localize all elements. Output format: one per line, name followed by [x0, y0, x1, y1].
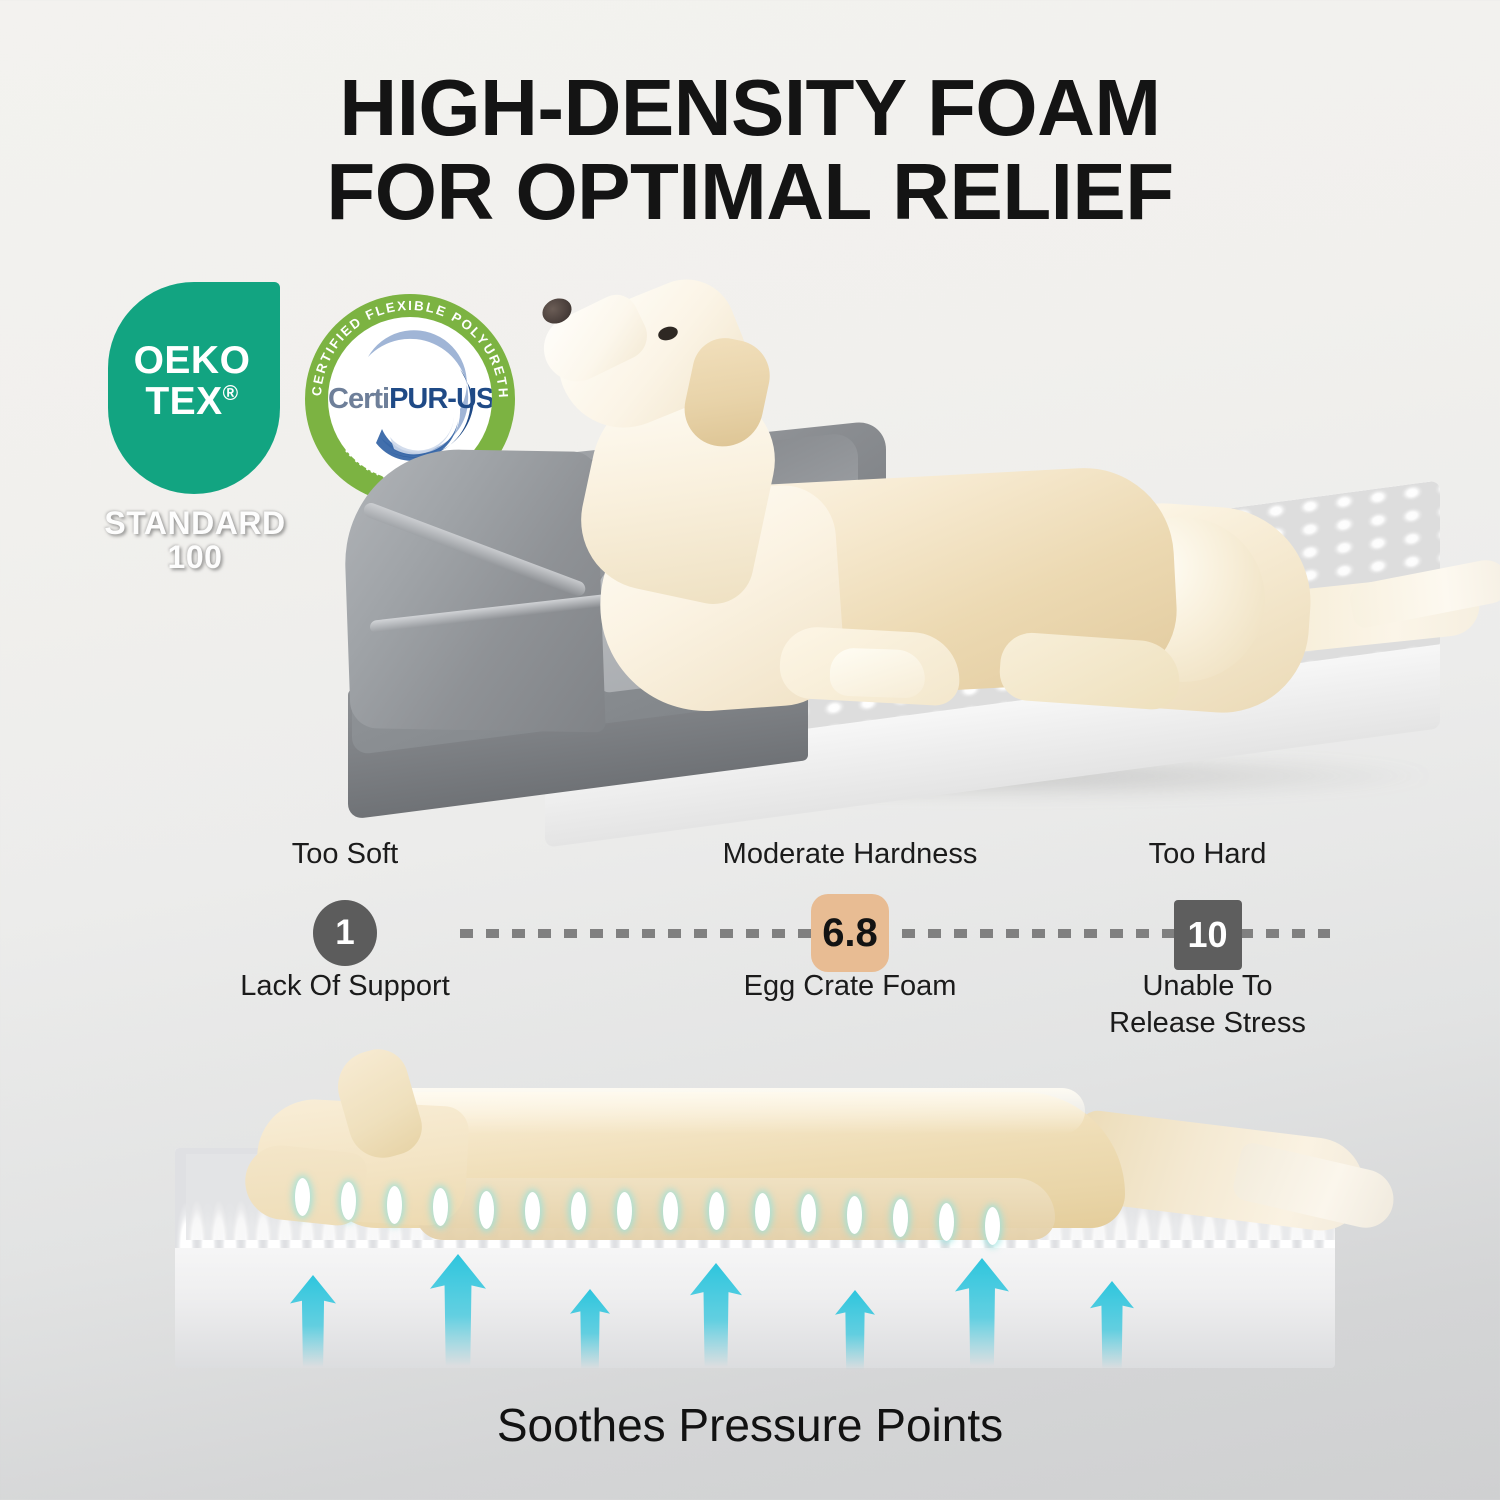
- dog-back-highlight: [385, 1088, 1085, 1134]
- oeko-standard-line-2: 100: [168, 539, 223, 575]
- page-title: HIGH-DENSITY FOAM FOR OPTIMAL RELIEF: [0, 66, 1500, 234]
- oeko-registered-mark: ®: [223, 382, 239, 405]
- scale-top-label: Too Soft: [292, 838, 398, 871]
- spine-pressure-dot: [617, 1192, 632, 1230]
- oeko-standard-label: STANDARD 100: [100, 506, 290, 574]
- dog-hind-leg: [998, 631, 1182, 711]
- spine-pressure-dot: [801, 1194, 816, 1232]
- title-line-1: HIGH-DENSITY FOAM: [0, 66, 1500, 150]
- scale-marker-1: 1: [313, 900, 377, 966]
- spine-pressure-dot: [893, 1199, 908, 1237]
- labrador-dog-lying: [300, 255, 1440, 815]
- scale-bottom-label: Egg Crate Foam: [744, 968, 957, 1005]
- pressure-arrow: [290, 1269, 336, 1373]
- spine-pressure-dot: [341, 1182, 356, 1220]
- spine-pressure-dot: [709, 1192, 724, 1230]
- title-line-2: FOR OPTIMAL RELIEF: [0, 150, 1500, 234]
- dog-paw: [829, 647, 926, 698]
- pressure-arrow: [430, 1247, 486, 1373]
- oeko-standard-line-1: STANDARD: [104, 505, 285, 541]
- spine-pressure-dot: [571, 1192, 586, 1230]
- spine-pressure-dot: [479, 1191, 494, 1229]
- spine-pressure-dot: [433, 1188, 448, 1226]
- oeko-tex-badge: OEKO TEX® STANDARD 100: [108, 282, 288, 574]
- oeko-tex-droplet-shape: OEKO TEX®: [108, 282, 280, 494]
- pressure-arrow: [570, 1285, 610, 1373]
- scale-marker-68: 6.8: [811, 894, 889, 972]
- spine-pressure-dot: [755, 1193, 770, 1231]
- pressure-arrow: [955, 1251, 1009, 1373]
- firmness-scale: Too Soft 1 Lack Of Support Moderate Hard…: [150, 838, 1350, 1053]
- oeko-line-2: TEX: [145, 380, 222, 423]
- scale-top-label: Moderate Hardness: [723, 838, 978, 871]
- upward-pressure-arrows: [290, 1238, 1190, 1373]
- spine-pressure-dot: [295, 1178, 310, 1216]
- bottom-caption: Soothes Pressure Points: [0, 1398, 1500, 1452]
- spine-pressure-dot: [939, 1203, 954, 1241]
- pressure-arrow: [690, 1257, 742, 1373]
- pressure-arrow: [1090, 1277, 1134, 1373]
- spine-pressure-dot: [525, 1192, 540, 1230]
- oeko-tex-label: OEKO TEX®: [134, 341, 251, 422]
- product-photo-dog-on-bed: [300, 255, 1440, 815]
- oeko-line-1: OEKO: [134, 339, 251, 382]
- scale-bottom-label: Lack Of Support: [240, 968, 450, 1005]
- pressure-arrow: [835, 1287, 875, 1373]
- scale-marker-10: 10: [1174, 900, 1242, 970]
- spine-pressure-dot: [387, 1186, 402, 1224]
- scale-top-label: Too Hard: [1149, 838, 1267, 871]
- spine-pressure-dot: [847, 1196, 862, 1234]
- spine-pressure-dot: [663, 1192, 678, 1230]
